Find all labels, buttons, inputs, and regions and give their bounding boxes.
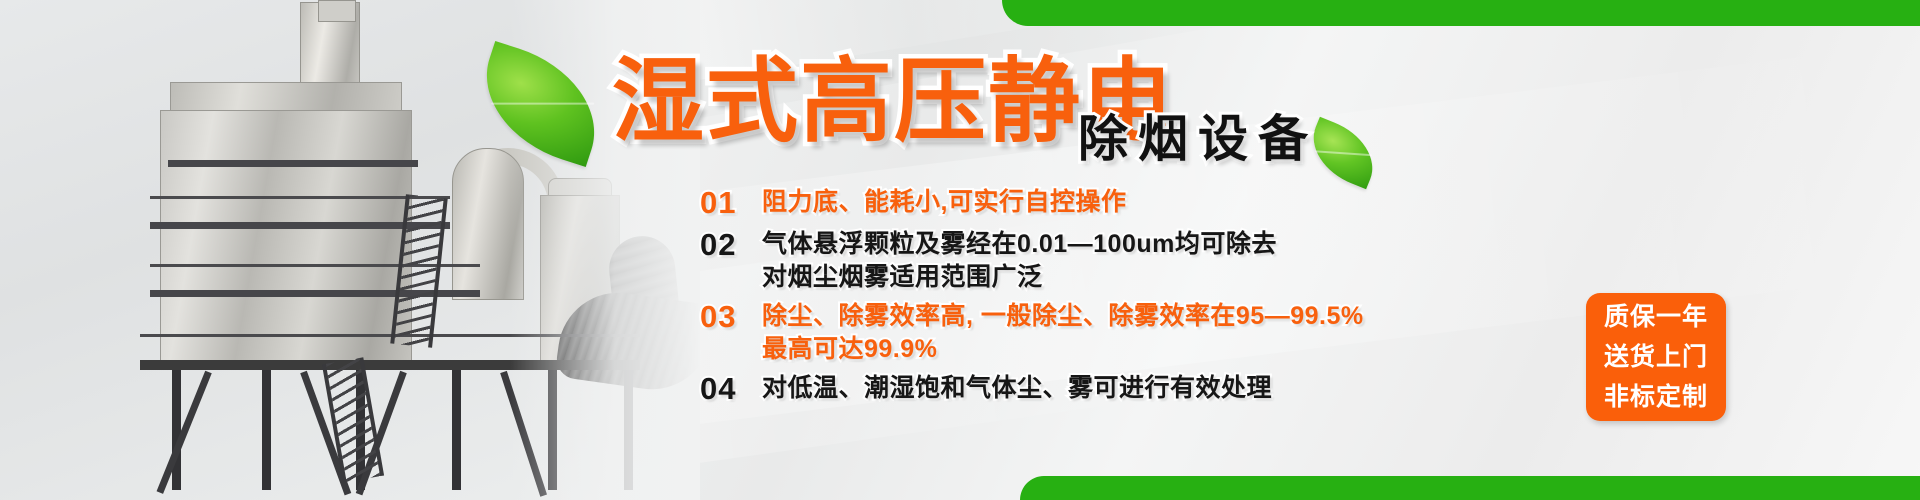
list-item: 04 对低温、潮湿饱和气体尘、雾可进行有效处理 (700, 372, 1620, 406)
green-band-top (1002, 0, 1920, 26)
list-item: 03 除尘、除雾效率高, 一般除尘、除雾效率在95—99.5% 最高可达99.9… (700, 300, 1620, 366)
photo-support-leg (172, 370, 181, 490)
feature-text: 对低温、潮湿饱和气体尘、雾可进行有效处理 (762, 372, 1272, 405)
equipment-photo (0, 0, 700, 500)
leaf-vein (1315, 150, 1372, 156)
feature-number: 02 (700, 228, 756, 262)
feature-line: 最高可达99.9% (762, 333, 1364, 366)
photo-dust-collector-tower (160, 110, 412, 362)
feature-line: 气体悬浮颗粒及雾经在0.01—100um均可除去 (762, 228, 1277, 261)
photo-support-leg (452, 370, 461, 490)
feature-line: 除尘、除雾效率高, 一般除尘、除雾效率在95—99.5% (762, 300, 1364, 333)
list-item: 01 阻力底、能耗小,可实行自控操作 (700, 186, 1620, 220)
badge-line: 非标定制 (1604, 377, 1708, 417)
badge-line: 送货上门 (1604, 337, 1708, 377)
feature-text: 气体悬浮颗粒及雾经在0.01—100um均可除去 对烟尘烟雾适用范围广泛 (762, 228, 1277, 294)
green-band-bottom (1020, 476, 1920, 500)
feature-line: 阻力底、能耗小,可实行自控操作 (762, 186, 1126, 219)
feature-line: 对低温、潮湿饱和气体尘、雾可进行有效处理 (762, 372, 1272, 405)
feature-number: 04 (700, 372, 756, 406)
list-item: 02 气体悬浮颗粒及雾经在0.01—100um均可除去 对烟尘烟雾适用范围广泛 (700, 228, 1620, 294)
feature-line: 对烟尘烟雾适用范围广泛 (762, 261, 1277, 294)
photo-chimney-cap (318, 0, 356, 22)
feature-number: 03 (700, 300, 756, 334)
leaf-vein (491, 103, 594, 105)
feature-text: 除尘、除雾效率高, 一般除尘、除雾效率在95—99.5% 最高可达99.9% (762, 300, 1364, 366)
badge-line: 质保一年 (1604, 297, 1708, 337)
feature-list: 01 阻力底、能耗小,可实行自控操作 02 气体悬浮颗粒及雾经在0.01—100… (700, 186, 1620, 412)
page-subtitle: 除烟设备 (1078, 112, 1318, 166)
photo-platform-deck (168, 160, 418, 167)
feature-text: 阻力底、能耗小,可实行自控操作 (762, 186, 1126, 219)
feature-number: 01 (700, 186, 756, 220)
promo-banner: 湿式高压静电 除烟设备 01 阻力底、能耗小,可实行自控操作 02 气体悬浮颗粒… (0, 0, 1920, 500)
photo-support-leg (262, 370, 271, 490)
guarantee-badge: 质保一年 送货上门 非标定制 (1586, 293, 1726, 421)
